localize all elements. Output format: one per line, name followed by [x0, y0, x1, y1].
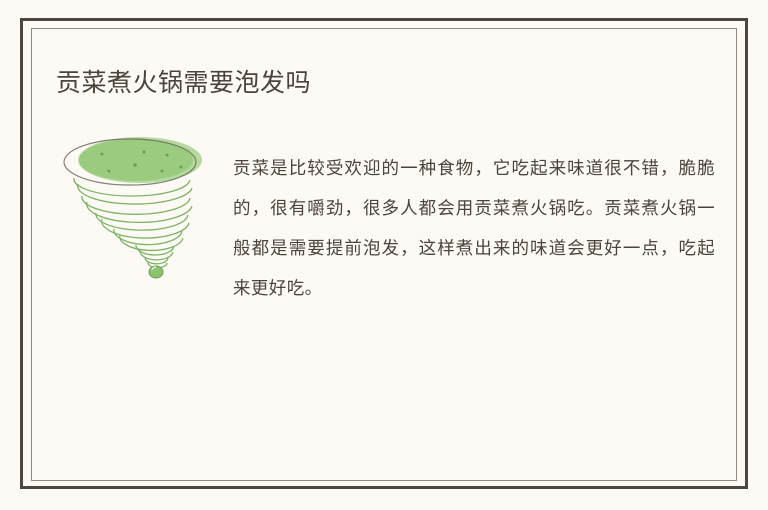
- page-title: 贡菜煮火锅需要泡发吗: [56, 66, 311, 100]
- article-body-text: 贡菜是比较受欢迎的一种食物，它吃起来味道很不错，脆脆的，很有嚼劲，很多人都会用贡…: [233, 148, 715, 308]
- tornado-icon: [52, 136, 218, 288]
- tornado-illustration: [52, 136, 218, 288]
- page-root: 贡菜煮火锅需要泡发吗: [0, 0, 768, 510]
